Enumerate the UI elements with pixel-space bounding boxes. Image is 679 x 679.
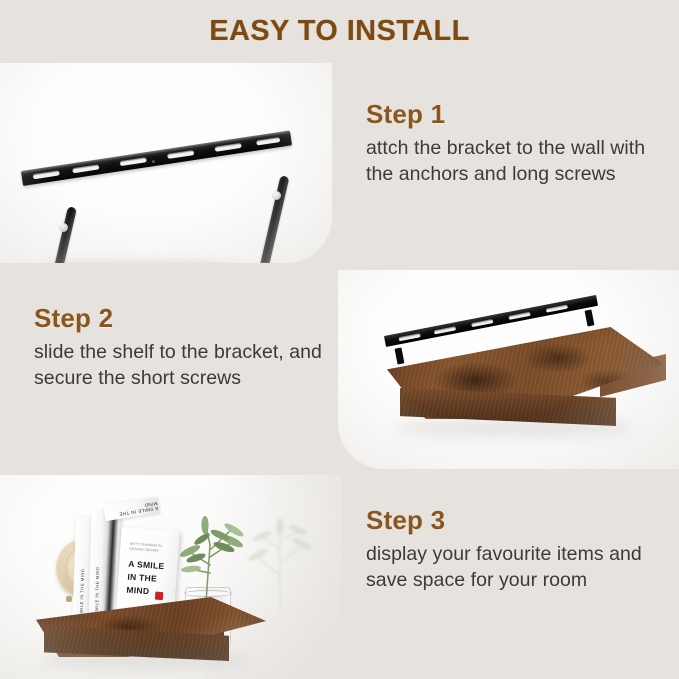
step-1-heading: Step 1 (366, 100, 666, 129)
bracket-slot (214, 143, 241, 152)
wall-bracket-illustration (0, 63, 332, 263)
bracket-bar (21, 130, 292, 186)
bracket-slot (471, 319, 493, 327)
book-spine-text: A SMILE IN THE MIND (94, 566, 100, 619)
bracket-rod-left (46, 206, 76, 263)
bracket-slot (72, 164, 99, 173)
styled-shelf-illustration: A SMILE IN THE MIND A SMILE IN THE MIND … (0, 475, 341, 679)
bracket-center-dot (152, 160, 155, 163)
bracket-screw-right (272, 191, 281, 200)
step-2-body: slide the shelf to the bracket, and secu… (34, 340, 324, 392)
page-title: EASY TO INSTALL (0, 15, 679, 48)
book-front-subtitle: WITTY THINKING IN GRAPHIC DESIGN (129, 542, 172, 555)
step-1-text-block: Step 1 attch the bracket to the wall wit… (366, 100, 666, 187)
step-2-photo (338, 270, 679, 469)
book-front-title: A SMILE IN THE MIND (126, 558, 173, 599)
step-3-body: display your favourite items and save sp… (366, 542, 671, 594)
infographic-root: EASY TO INSTALL Step 1 (0, 0, 679, 679)
bracket-tab-right (585, 309, 595, 326)
bracket-slot (546, 304, 568, 312)
clock-foot-left (66, 596, 72, 602)
bracket-slot (256, 137, 280, 146)
shelf-with-bracket-illustration (338, 270, 679, 469)
bracket-shadow (40, 259, 240, 263)
bracket-screw-left (59, 223, 68, 232)
bracket-slot (398, 333, 420, 341)
step-3-text-block: Step 3 display your favourite items and … (366, 506, 671, 593)
bracket-slot (167, 150, 194, 159)
step-2-heading: Step 2 (34, 304, 324, 333)
bracket-slot (508, 311, 530, 319)
bracket-rod-right (260, 175, 289, 263)
step-1-body: attch the bracket to the wall with the a… (366, 136, 666, 188)
bracket-slot (434, 326, 456, 334)
bracket-slot (120, 157, 147, 166)
step-3-heading: Step 3 (366, 506, 671, 535)
step-1-photo (0, 63, 332, 263)
bracket-tab-left (395, 347, 405, 364)
step-2-text-block: Step 2 slide the shelf to the bracket, a… (34, 304, 324, 391)
bracket-slot (33, 170, 60, 179)
potted-plant (176, 511, 268, 603)
step-3-photo: A SMILE IN THE MIND A SMILE IN THE MIND … (0, 475, 341, 679)
book-cover-accent (155, 592, 164, 601)
book-spine-text: A SMILE IN THE MIND (78, 568, 85, 621)
